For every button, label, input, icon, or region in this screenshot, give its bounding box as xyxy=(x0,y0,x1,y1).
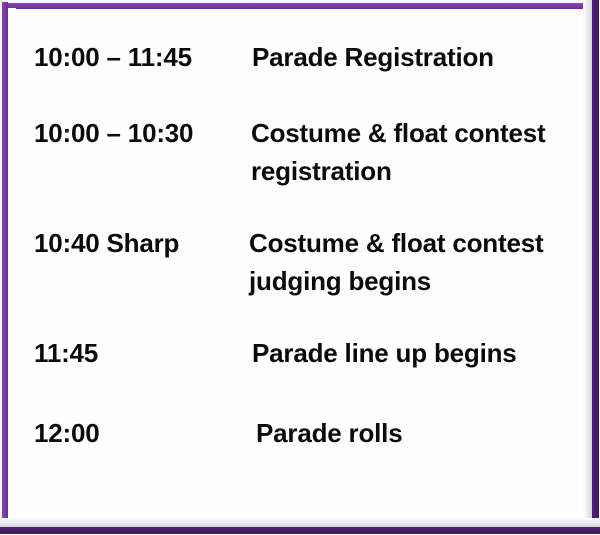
frame-edge-left-bevel xyxy=(8,8,16,529)
frame-edge-right-accent xyxy=(592,0,599,535)
schedule-time: 10:00 – 10:30 xyxy=(34,114,193,152)
schedule-description: Costume & float contest registration xyxy=(251,114,545,190)
frame-edge-top-bevel xyxy=(2,9,598,16)
schedule-time: 10:40 Sharp xyxy=(34,224,179,262)
schedule-time: 12:00 xyxy=(34,414,100,452)
frame-edge-right-shadow xyxy=(583,0,592,535)
schedule-time: 11:45 xyxy=(34,334,98,372)
schedule-time: 10:00 – 11:45 xyxy=(34,38,192,76)
schedule-description: Costume & float contest judging begins xyxy=(249,224,543,300)
decorative-frame: 10:00 – 11:45 Parade Registration 10:00 … xyxy=(0,0,600,535)
frame-edge-bottom-shadow xyxy=(0,518,600,527)
frame-edge-bottom-accent xyxy=(0,527,600,534)
schedule-description: Parade Registration xyxy=(252,38,494,76)
document-canvas: 10:00 – 11:45 Parade Registration 10:00 … xyxy=(16,16,578,511)
schedule-list: 10:00 – 11:45 Parade Registration 10:00 … xyxy=(16,16,578,511)
schedule-description: Parade line up begins xyxy=(252,334,517,372)
schedule-description: Parade rolls xyxy=(256,414,402,452)
